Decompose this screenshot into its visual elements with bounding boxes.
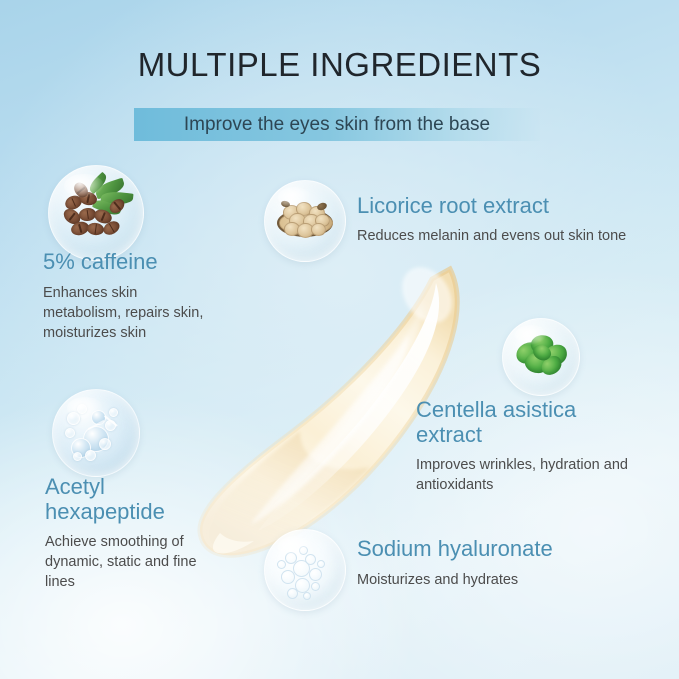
ingredient-description-centella: Improves wrinkles, hydration and antioxi… [416, 455, 631, 495]
centella-leaf-illustration [503, 319, 579, 395]
peptide-bubbles-illustration [53, 390, 139, 476]
ingredient-name-acetyl-hexapeptide: Acetyl hexapeptide [45, 475, 225, 524]
ingredient-name-sodium-hyaluronate: Sodium hyaluronate [357, 537, 637, 562]
subtitle-banner: Improve the eyes skin from the base [134, 108, 540, 141]
ingredient-name-centella: Centella asistica extract [416, 398, 616, 447]
subtitle-text: Improve the eyes skin from the base [184, 114, 490, 136]
ingredient-description-acetyl-hexapeptide: Achieve smoothing of dynamic, static and… [45, 532, 210, 592]
ingredient-name-caffeine: 5% caffeine [43, 250, 243, 275]
coffee-beans-illustration [49, 166, 143, 260]
water-droplets-illustration [265, 530, 345, 610]
ingredient-description-caffeine: Enhances skin metabolism, repairs skin, … [43, 283, 215, 343]
centella-leaf-icon [502, 318, 580, 396]
ingredient-description-licorice: Reduces melanin and evens out skin tone [357, 226, 657, 246]
coffee-beans-icon [48, 165, 144, 261]
page-title: MULTIPLE INGREDIENTS [0, 46, 679, 84]
licorice-root-illustration [265, 181, 345, 261]
peptide-bubbles-icon [52, 389, 140, 477]
ingredients-infographic: MULTIPLE INGREDIENTS Improve the eyes sk… [0, 0, 679, 679]
ingredient-description-sodium-hyaluronate: Moisturizes and hydrates [357, 570, 637, 590]
water-droplets-icon [264, 529, 346, 611]
ingredient-name-licorice: Licorice root extract [357, 194, 637, 219]
licorice-root-icon [264, 180, 346, 262]
